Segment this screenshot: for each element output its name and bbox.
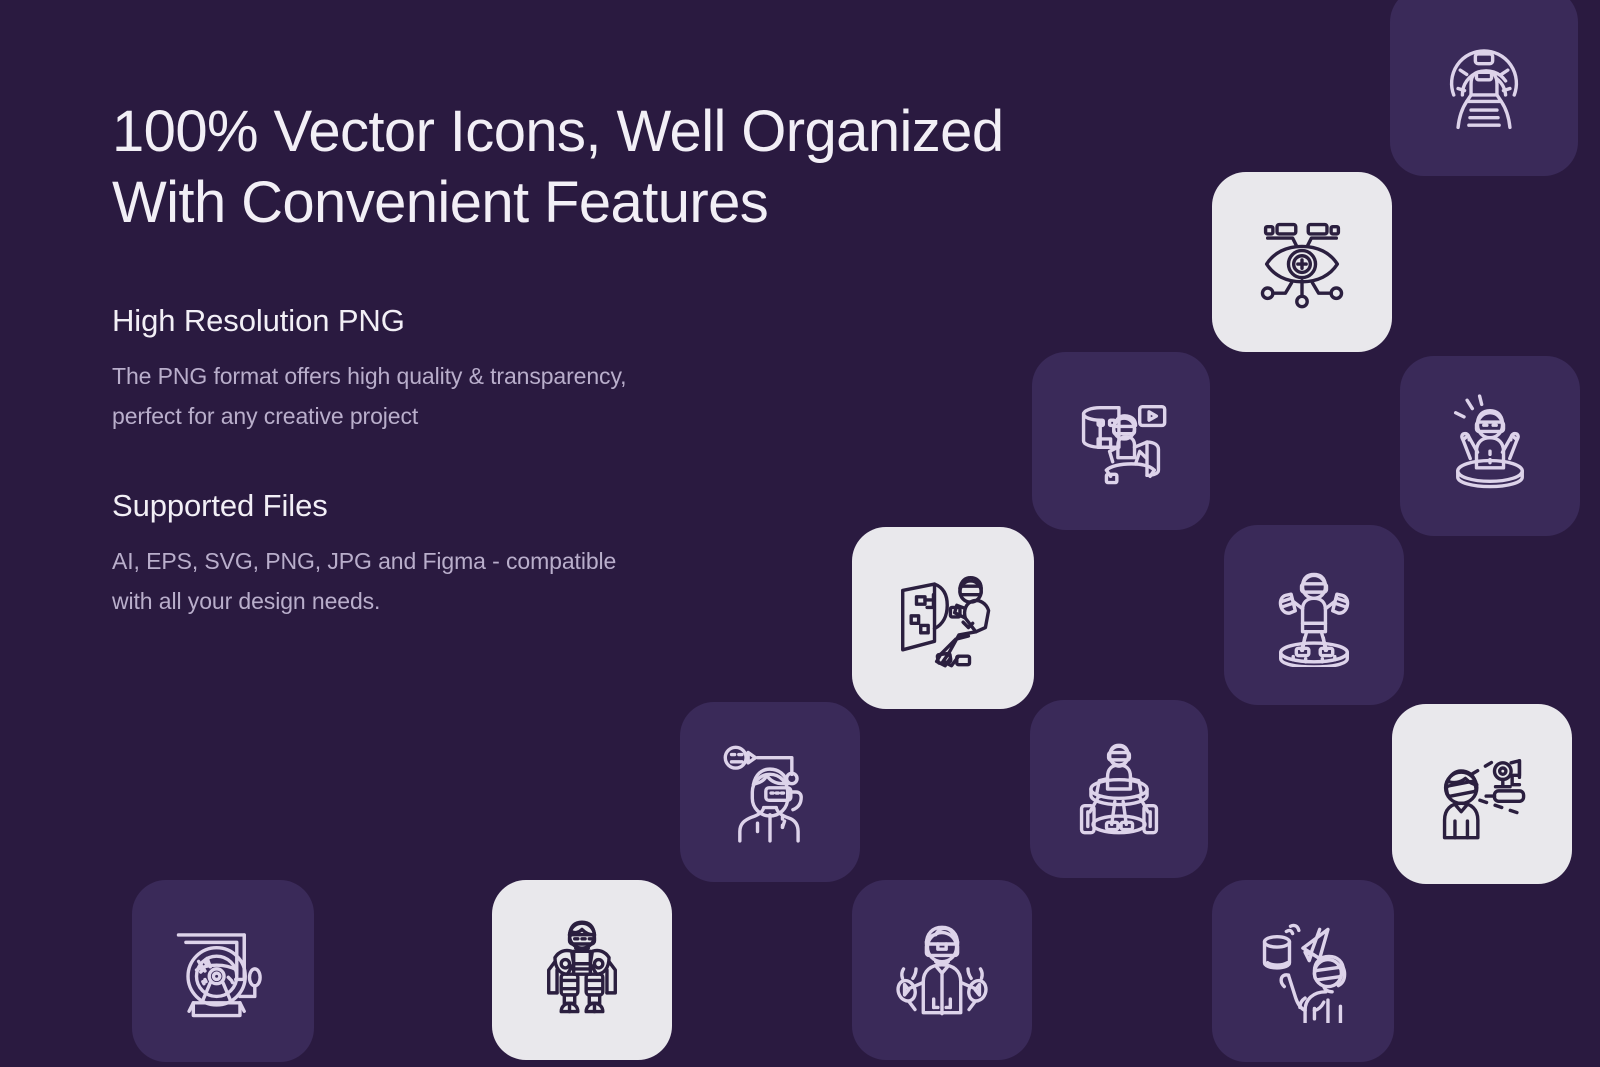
icon-tile-vr-omni-treadmill[interactable]: [1030, 700, 1208, 878]
feature-title: High Resolution PNG: [112, 301, 1032, 341]
icon-tile-vr-smart-glasses[interactable]: [680, 702, 860, 882]
page-title: 100% Vector Icons, Well Organized With C…: [112, 96, 1032, 239]
icon-tile-vr-robot-remote[interactable]: [1392, 704, 1572, 884]
icon-tile-vr-platform-cheer[interactable]: [1400, 356, 1580, 536]
feature-body: The PNG format offers high quality & tra…: [112, 357, 1032, 436]
promo-canvas: 100% Vector Icons, Well Organized With C…: [0, 0, 1600, 1067]
vr-video-watching-icon: [1069, 389, 1173, 493]
vr-eye-network-icon: [1250, 210, 1354, 314]
vr-simulator-pod-icon: [1430, 28, 1538, 136]
icon-tile-vr-curved-screen[interactable]: [852, 527, 1034, 709]
vr-exoskeleton-icon: [530, 918, 634, 1022]
vr-curved-screen-icon: [890, 565, 996, 671]
icon-tile-vr-video-watching[interactable]: [1032, 352, 1210, 530]
icon-tile-vr-object-throw[interactable]: [1212, 880, 1394, 1062]
icon-tile-vr-boxing-platform[interactable]: [1224, 525, 1404, 705]
vr-smart-glasses-icon: [718, 740, 822, 844]
vr-boxing-platform-icon: [1262, 563, 1366, 667]
vr-motion-controllers-icon: [890, 918, 994, 1022]
icon-tile-vr-racing-wheel[interactable]: [132, 880, 314, 1062]
vr-racing-wheel-icon: [170, 918, 276, 1024]
vr-object-throw-icon: [1251, 919, 1355, 1023]
feature-section-png: High Resolution PNG The PNG format offer…: [112, 301, 1032, 436]
icon-tile-vr-eye-network[interactable]: [1212, 172, 1392, 352]
icon-tile-vr-simulator-pod[interactable]: [1390, 0, 1578, 176]
vr-platform-cheer-icon: [1438, 394, 1542, 498]
vr-robot-remote-icon: [1430, 742, 1534, 846]
icon-tile-vr-motion-controllers[interactable]: [852, 880, 1032, 1060]
icon-tile-vr-exoskeleton[interactable]: [492, 880, 672, 1060]
feature-title: Supported Files: [112, 486, 1032, 526]
vr-omni-treadmill-icon: [1067, 737, 1171, 841]
